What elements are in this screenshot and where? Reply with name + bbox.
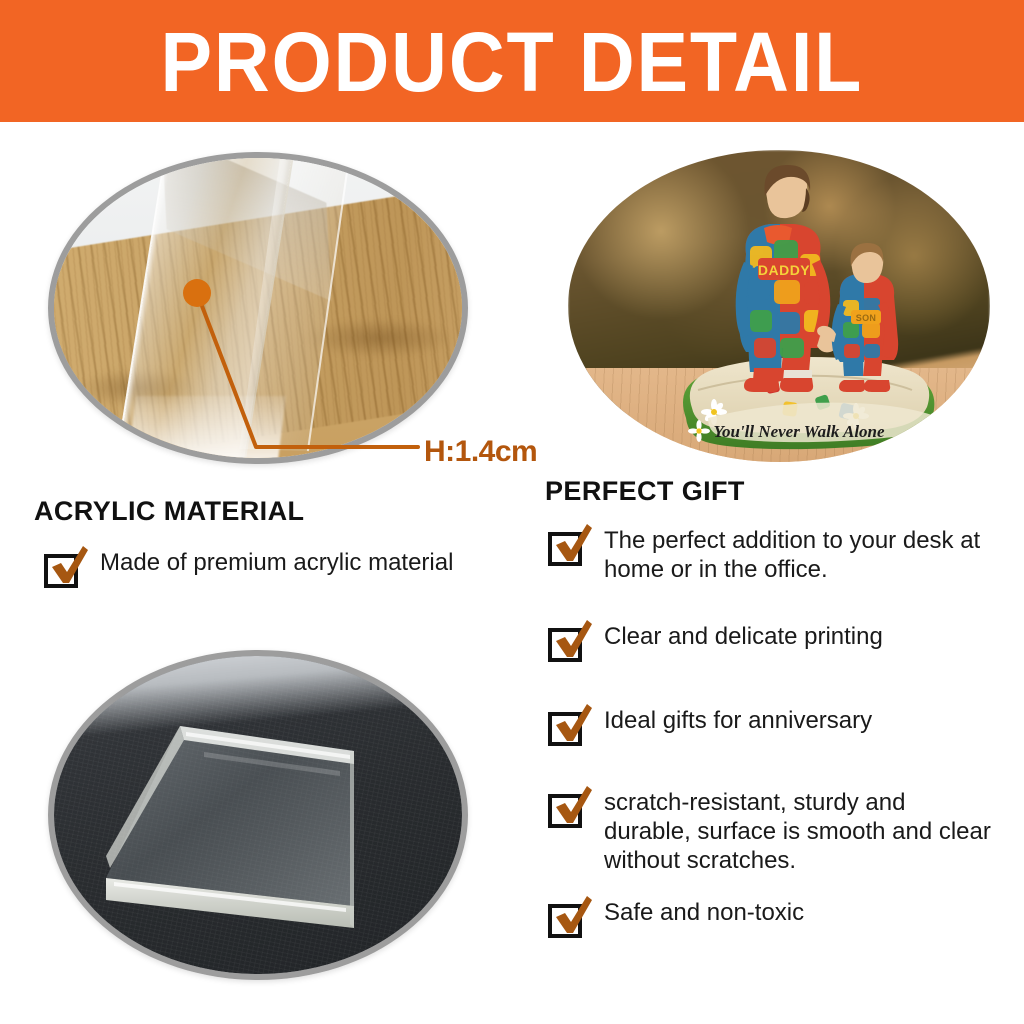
checkmark-icon bbox=[547, 893, 595, 937]
checkmark-icon bbox=[547, 521, 595, 565]
page-title: PRODUCT DETAIL bbox=[161, 20, 864, 104]
checkbox-checked-icon[interactable] bbox=[548, 624, 588, 664]
feature-text: Made of premium acrylic material bbox=[100, 548, 500, 577]
checkbox-checked-icon[interactable] bbox=[548, 708, 588, 748]
feature-text: Ideal gifts for anniversary bbox=[604, 706, 994, 735]
father-son-figurine-illustration: DADDY bbox=[568, 150, 990, 462]
feature-text: Clear and delicate printing bbox=[604, 622, 994, 651]
checkbox-checked-icon[interactable] bbox=[44, 550, 84, 590]
wood-table-scene bbox=[54, 158, 462, 458]
checkmark-icon bbox=[547, 783, 595, 827]
checkbox-checked-icon[interactable] bbox=[548, 528, 588, 568]
daddy-nameplate: DADDY bbox=[758, 258, 810, 280]
feature-item: scratch-resistant, sturdy and durable, s… bbox=[548, 788, 994, 875]
base-quote-text: You'll Never Walk Alone bbox=[713, 422, 885, 441]
feature-item: Clear and delicate printing bbox=[548, 622, 994, 664]
product-detail-banner: PRODUCT DETAIL bbox=[0, 0, 1024, 122]
height-dimension-label: H:1.4cm bbox=[424, 435, 537, 469]
feature-text: scratch-resistant, sturdy and durable, s… bbox=[604, 788, 994, 875]
acrylic-base-highlight bbox=[128, 396, 286, 460]
feature-item: Made of premium acrylic material bbox=[44, 548, 500, 590]
acrylic-block-illustration bbox=[54, 656, 468, 980]
child-nameplate: SON bbox=[851, 310, 881, 324]
feature-item: Safe and non-toxic bbox=[548, 898, 994, 940]
section-heading-perfect-gift: PERFECT GIFT bbox=[545, 476, 745, 507]
acrylic-edge-photo bbox=[48, 152, 468, 464]
checkmark-icon bbox=[547, 617, 595, 661]
svg-text:SON: SON bbox=[856, 313, 876, 323]
figurine-photo: DADDY bbox=[568, 150, 990, 462]
section-heading-acrylic-material: ACRYLIC MATERIAL bbox=[34, 496, 304, 527]
checkbox-checked-icon[interactable] bbox=[548, 790, 588, 830]
acrylic-block-photo bbox=[48, 650, 468, 980]
feature-item: Ideal gifts for anniversary bbox=[548, 706, 994, 748]
daddy-label: DADDY bbox=[758, 262, 810, 278]
checkmark-icon bbox=[547, 701, 595, 745]
feature-text: Safe and non-toxic bbox=[604, 898, 994, 927]
feature-text: The perfect addition to your desk at hom… bbox=[604, 526, 994, 584]
checkmark-icon bbox=[43, 543, 91, 587]
checkbox-checked-icon[interactable] bbox=[548, 900, 588, 940]
feature-item: The perfect addition to your desk at hom… bbox=[548, 526, 994, 584]
